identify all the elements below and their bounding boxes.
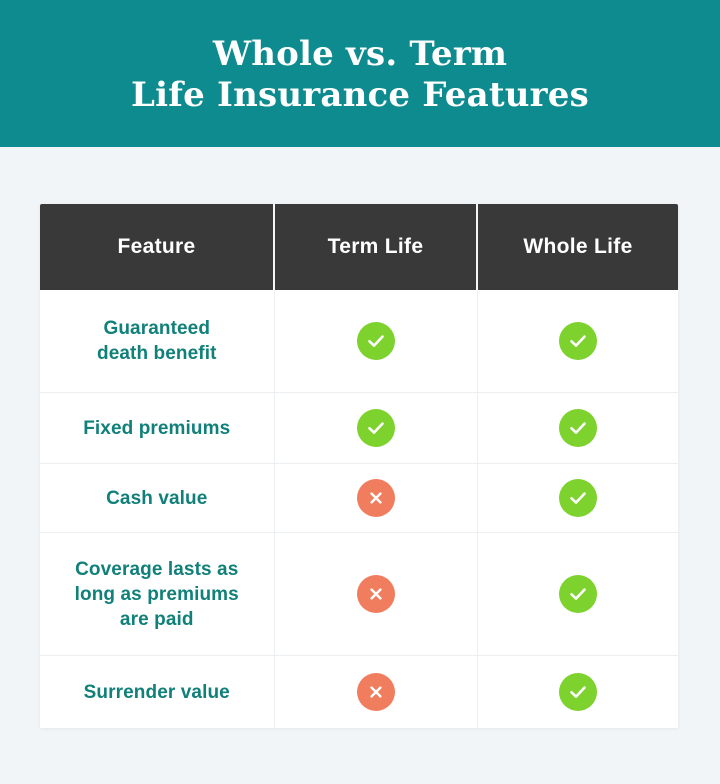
whole-life-cell xyxy=(477,290,678,393)
cross-circle-icon xyxy=(357,673,395,711)
feature-label-line: Fixed premiums xyxy=(83,418,230,439)
whole-life-cell xyxy=(477,393,678,464)
feature-label: Fixed premiums xyxy=(40,393,274,464)
feature-label: Coverage lasts as long as premiums are p… xyxy=(40,533,274,656)
whole-life-cell xyxy=(477,533,678,656)
whole-life-cell xyxy=(477,656,678,729)
term-life-cell xyxy=(274,393,477,464)
feature-label-line: Coverage lasts as xyxy=(75,559,238,580)
page-title: Whole vs. Term Life Insurance Features xyxy=(131,32,589,116)
term-life-cell xyxy=(274,290,477,393)
feature-label-line: long as premiums xyxy=(75,584,239,605)
table-header: Feature Term Life Whole Life xyxy=(40,204,678,290)
feature-label-line: are paid xyxy=(120,609,194,630)
feature-label-line: Surrender value xyxy=(84,682,230,703)
feature-label-line: Cash value xyxy=(106,488,207,509)
term-life-cell xyxy=(274,464,477,533)
header-banner: Whole vs. Term Life Insurance Features xyxy=(0,0,720,147)
cross-circle-icon xyxy=(357,575,395,613)
table-row: Coverage lasts as long as premiums are p… xyxy=(40,533,678,656)
feature-label: Surrender value xyxy=(40,656,274,729)
table-row: Fixed premiums xyxy=(40,393,678,464)
comparison-table: Feature Term Life Whole Life Guaranteed … xyxy=(40,204,678,728)
table-row: Surrender value xyxy=(40,656,678,729)
column-header-whole-life: Whole Life xyxy=(477,204,678,290)
term-life-cell xyxy=(274,656,477,729)
term-life-cell xyxy=(274,533,477,656)
infographic-page: Whole vs. Term Life Insurance Features F… xyxy=(0,0,720,784)
page-title-line-1: Whole vs. Term xyxy=(131,34,589,75)
table-header-row: Feature Term Life Whole Life xyxy=(40,204,678,290)
column-header-term-life: Term Life xyxy=(274,204,477,290)
page-title-line-2: Life Insurance Features xyxy=(131,75,589,116)
check-circle-icon xyxy=(559,575,597,613)
feature-label: Cash value xyxy=(40,464,274,533)
whole-life-cell xyxy=(477,464,678,533)
check-circle-icon xyxy=(357,322,395,360)
table-row: Guaranteed death benefit xyxy=(40,290,678,393)
check-circle-icon xyxy=(559,409,597,447)
column-header-feature: Feature xyxy=(40,204,274,290)
check-circle-icon xyxy=(559,673,597,711)
comparison-table-container: Feature Term Life Whole Life Guaranteed … xyxy=(40,204,678,728)
check-circle-icon xyxy=(559,479,597,517)
feature-label: Guaranteed death benefit xyxy=(40,290,274,393)
check-circle-icon xyxy=(559,322,597,360)
feature-label-line: death benefit xyxy=(97,343,217,364)
table-body: Guaranteed death benefit xyxy=(40,290,678,728)
table-row: Cash value xyxy=(40,464,678,533)
feature-label-line: Guaranteed xyxy=(103,318,210,339)
check-circle-icon xyxy=(357,409,395,447)
cross-circle-icon xyxy=(357,479,395,517)
